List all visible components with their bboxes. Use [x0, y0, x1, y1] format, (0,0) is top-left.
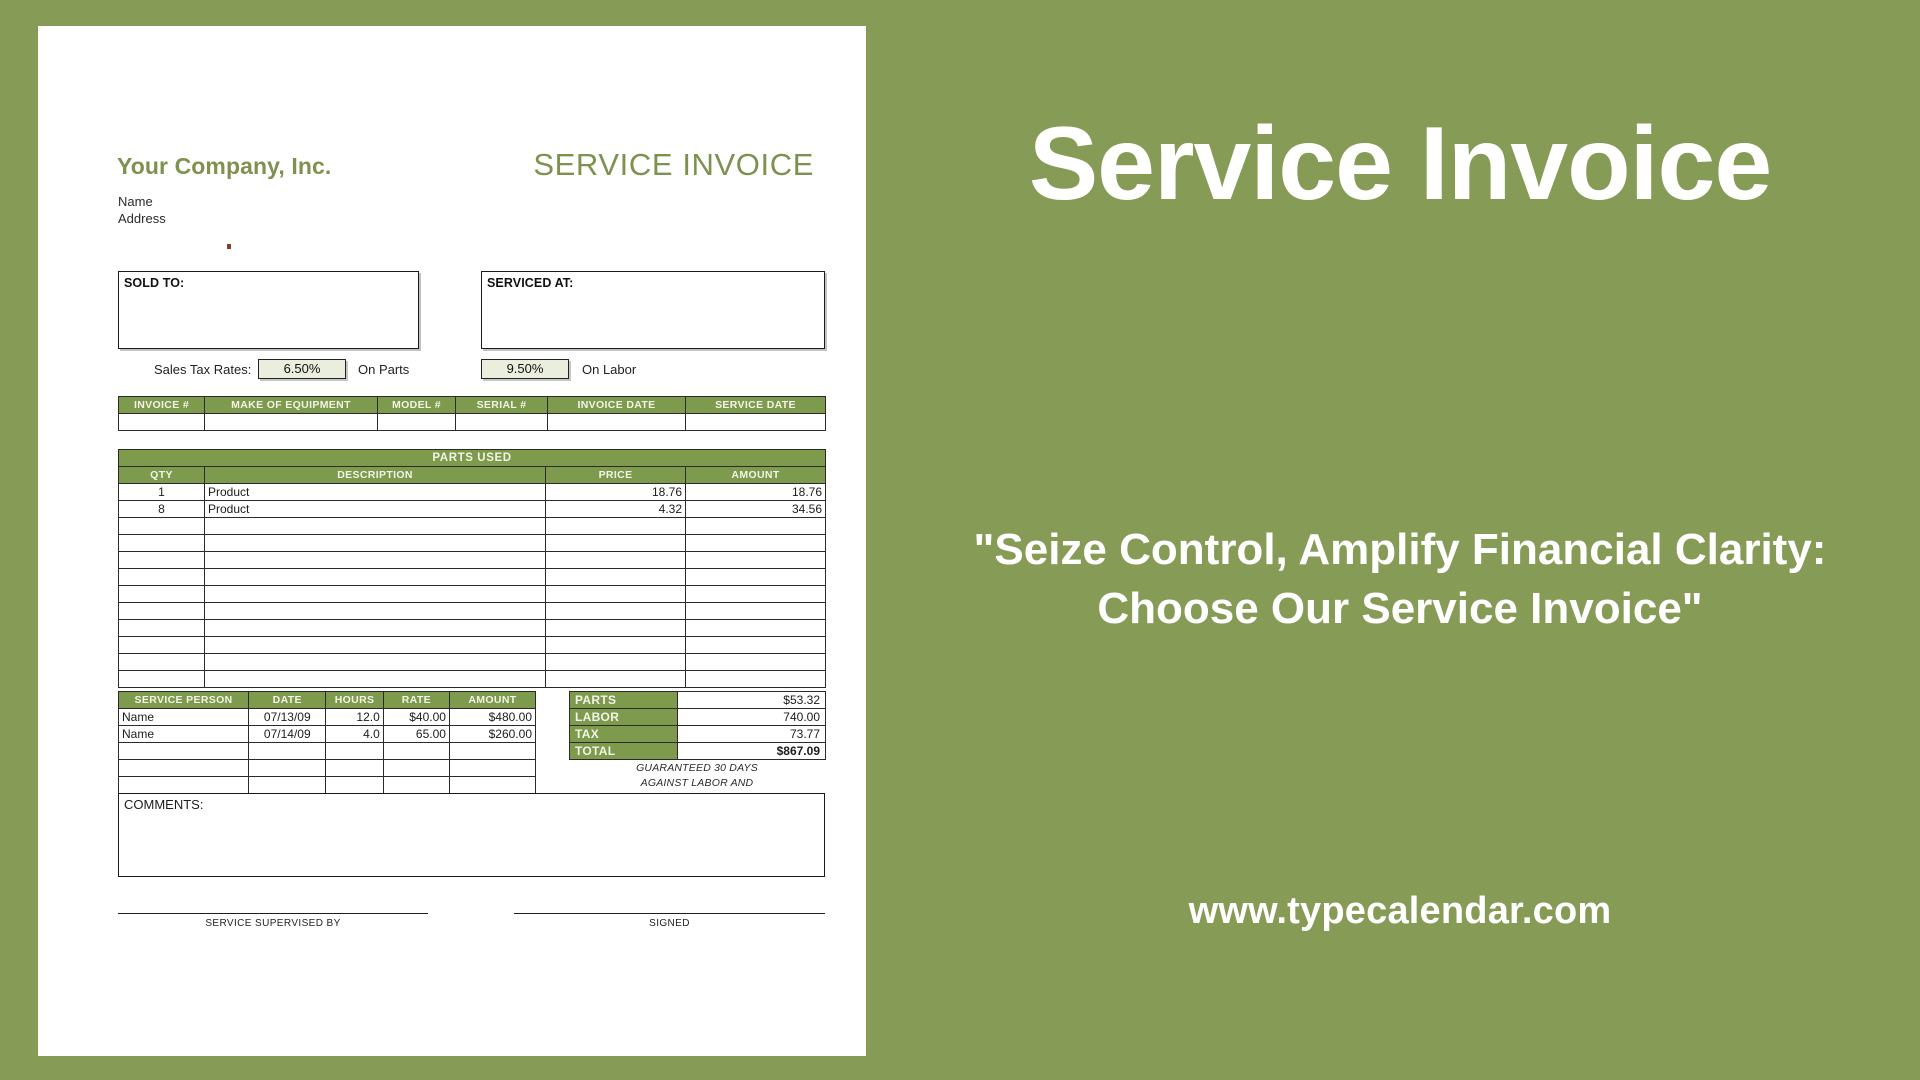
parts-amount-cell[interactable] [686, 569, 826, 586]
parts-amount-cell[interactable] [686, 654, 826, 671]
summary-value: 740.00 [678, 709, 826, 726]
service-rate-cell[interactable] [383, 760, 449, 777]
col-rate: RATE [383, 692, 449, 709]
parts-price-cell[interactable] [546, 637, 686, 654]
make-of-equipment-value[interactable] [205, 414, 378, 431]
parts-price-cell[interactable] [546, 671, 686, 688]
parts-price-cell[interactable] [546, 535, 686, 552]
parts-qty-cell[interactable] [119, 552, 205, 569]
service-row [119, 777, 536, 794]
parts-qty-cell[interactable] [119, 586, 205, 603]
service-date-cell[interactable] [249, 777, 326, 794]
service-amount-cell[interactable]: $480.00 [449, 709, 535, 726]
parts-rows-body: 1Product18.7618.768Product4.3234.56 [119, 484, 826, 688]
parts-qty-cell[interactable] [119, 620, 205, 637]
summary-value: 73.77 [678, 726, 826, 743]
parts-price-cell[interactable] [546, 654, 686, 671]
col-description: DESCRIPTION [205, 467, 546, 484]
summary-label: TAX [570, 726, 678, 743]
summary-rows-body: PARTS$53.32LABOR740.00TAX73.77TOTAL$867.… [570, 692, 826, 760]
sold-to-label: SOLD TO: [119, 272, 418, 290]
summary-value: $53.32 [678, 692, 826, 709]
guarantee-line-2: AGAINST LABOR AND [569, 776, 825, 791]
service-header-row: SERVICE PERSON DATE HOURS RATE AMOUNT [119, 692, 536, 709]
col-invoice-date: INVOICE DATE [548, 397, 686, 414]
parts-row [119, 518, 826, 535]
summary-row: LABOR740.00 [570, 709, 826, 726]
poster-canvas: Your Company, Inc. SERVICE INVOICE Name … [0, 0, 1920, 1080]
supervised-by-block: SERVICE SUPERVISED BY [118, 913, 428, 929]
company-name: Your Company, Inc. [117, 153, 331, 180]
col-price: PRICE [546, 467, 686, 484]
parts-description-cell[interactable]: Product [205, 501, 546, 518]
service-rate-cell[interactable] [383, 777, 449, 794]
parts-amount-cell[interactable]: 34.56 [686, 501, 826, 518]
invoice-number-value[interactable] [119, 414, 205, 431]
col-service-person: SERVICE PERSON [119, 692, 249, 709]
service-row [119, 743, 536, 760]
parts-qty-cell[interactable] [119, 654, 205, 671]
service-hours-cell[interactable] [326, 743, 383, 760]
supervised-by-caption: SERVICE SUPERVISED BY [118, 918, 428, 929]
parts-used-table: PARTS USED QTY DESCRIPTION PRICE AMOUNT … [118, 449, 825, 688]
invoice-page: Your Company, Inc. SERVICE INVOICE Name … [38, 26, 866, 1056]
parts-description-cell[interactable]: Product [205, 484, 546, 501]
parts-row [119, 569, 826, 586]
company-address-label: Address [118, 210, 166, 227]
parts-price-cell[interactable] [546, 518, 686, 535]
parts-price-cell[interactable] [546, 603, 686, 620]
parts-price-cell[interactable] [546, 620, 686, 637]
parts-row [119, 603, 826, 620]
service-hours-cell[interactable] [326, 777, 383, 794]
service-amount-cell[interactable]: $260.00 [449, 726, 535, 743]
parts-amount-cell[interactable]: 18.76 [686, 484, 826, 501]
col-service-date: SERVICE DATE [686, 397, 826, 414]
col-amount: AMOUNT [686, 467, 826, 484]
summary-label: LABOR [570, 709, 678, 726]
parts-used-title-row: PARTS USED [119, 450, 826, 467]
parts-amount-cell[interactable] [686, 637, 826, 654]
model-number-value[interactable] [378, 414, 456, 431]
comments-box[interactable]: COMMENTS: [118, 793, 825, 877]
invoice-info-value-row [119, 414, 826, 431]
invoice-info-header-row: INVOICE # MAKE OF EQUIPMENT MODEL # SERI… [119, 397, 826, 414]
summary-row: TAX73.77 [570, 726, 826, 743]
service-amount-cell[interactable] [449, 743, 535, 760]
parts-price-cell[interactable] [546, 569, 686, 586]
service-hours-cell[interactable]: 12.0 [326, 709, 383, 726]
guarantee-line-1: GUARANTEED 30 DAYS [569, 761, 825, 776]
parts-qty-cell[interactable] [119, 603, 205, 620]
service-amount-cell[interactable] [449, 760, 535, 777]
promo-tagline: "Seize Control, Amplify Financial Clarit… [910, 520, 1890, 639]
parts-used-title: PARTS USED [119, 450, 826, 467]
service-row: Name07/14/094.065.00$260.00 [119, 726, 536, 743]
sold-to-box[interactable]: SOLD TO: [118, 271, 419, 349]
serial-number-value[interactable] [456, 414, 548, 431]
parts-amount-cell[interactable] [686, 620, 826, 637]
service-rate-cell[interactable]: 65.00 [383, 726, 449, 743]
parts-row [119, 620, 826, 637]
service-hours-cell[interactable]: 4.0 [326, 726, 383, 743]
service-person-cell[interactable]: Name [119, 726, 249, 743]
parts-header-row: QTY DESCRIPTION PRICE AMOUNT [119, 467, 826, 484]
serviced-at-box[interactable]: SERVICED AT: [481, 271, 825, 349]
on-labor-label: On Labor [582, 362, 636, 377]
parts-qty-cell[interactable]: 1 [119, 484, 205, 501]
parts-row [119, 654, 826, 671]
red-marker-dot [227, 244, 231, 249]
parts-amount-cell[interactable] [686, 518, 826, 535]
parts-description-cell[interactable] [205, 620, 546, 637]
parts-amount-cell[interactable] [686, 603, 826, 620]
promo-panel: Service Invoice "Seize Control, Amplify … [880, 0, 1920, 1080]
parts-row [119, 671, 826, 688]
parts-price-cell[interactable] [546, 586, 686, 603]
parts-description-cell[interactable] [205, 637, 546, 654]
parts-row [119, 552, 826, 569]
service-rows-body: Name07/13/0912.0$40.00$480.00Name07/14/0… [119, 709, 536, 794]
signature-zone: SERVICE SUPERVISED BY SIGNED [118, 913, 825, 947]
invoice-sheet: Your Company, Inc. SERVICE INVOICE Name … [80, 131, 822, 189]
parts-description-cell[interactable] [205, 586, 546, 603]
sales-tax-rates-row: Sales Tax Rates: 6.50% On Parts 9.50% On… [118, 359, 825, 381]
address-boxes: SOLD TO: SERVICED AT: [118, 271, 825, 349]
col-invoice-number: INVOICE # [119, 397, 205, 414]
service-date-cell[interactable]: 07/13/09 [249, 709, 326, 726]
document-title: SERVICE INVOICE [533, 147, 814, 183]
company-name-label: Name [118, 193, 166, 210]
parts-description-cell[interactable] [205, 535, 546, 552]
col-hours: HOURS [326, 692, 383, 709]
invoice-header: Your Company, Inc. SERVICE INVOICE [80, 131, 822, 189]
company-contact-block: Name Address [118, 193, 166, 228]
col-make-of-equipment: MAKE OF EQUIPMENT [205, 397, 378, 414]
summary-table: PARTS$53.32LABOR740.00TAX73.77TOTAL$867.… [569, 691, 825, 760]
summary-value: $867.09 [678, 743, 826, 760]
col-serial-number: SERIAL # [456, 397, 548, 414]
service-date-cell[interactable]: 07/14/09 [249, 726, 326, 743]
service-date-value[interactable] [686, 414, 826, 431]
service-date-cell[interactable] [249, 760, 326, 777]
service-person-cell[interactable] [119, 760, 249, 777]
summary-label: TOTAL [570, 743, 678, 760]
service-person-cell[interactable] [119, 743, 249, 760]
col-qty: QTY [119, 467, 205, 484]
service-row [119, 760, 536, 777]
parts-row: 1Product18.7618.76 [119, 484, 826, 501]
service-rate-cell[interactable] [383, 743, 449, 760]
parts-qty-cell[interactable] [119, 569, 205, 586]
service-hours-cell[interactable] [326, 760, 383, 777]
service-person-cell[interactable] [119, 777, 249, 794]
col-date: DATE [249, 692, 326, 709]
parts-row [119, 637, 826, 654]
col-model-number: MODEL # [378, 397, 456, 414]
parts-description-cell[interactable] [205, 518, 546, 535]
parts-description-cell[interactable] [205, 654, 546, 671]
serviced-at-label: SERVICED AT: [482, 272, 824, 290]
parts-qty-cell[interactable] [119, 637, 205, 654]
parts-amount-cell[interactable] [686, 552, 826, 569]
labor-tax-rate-field[interactable]: 9.50% [481, 359, 569, 379]
parts-row [119, 535, 826, 552]
parts-description-cell[interactable] [205, 569, 546, 586]
sales-tax-rates-label: Sales Tax Rates: [154, 362, 251, 377]
parts-qty-cell[interactable] [119, 671, 205, 688]
parts-qty-cell[interactable] [119, 535, 205, 552]
invoice-info-table: INVOICE # MAKE OF EQUIPMENT MODEL # SERI… [118, 396, 825, 431]
summary-row: TOTAL$867.09 [570, 743, 826, 760]
promo-title: Service Invoice [880, 110, 1920, 219]
parts-price-cell[interactable] [546, 552, 686, 569]
col-service-amount: AMOUNT [449, 692, 535, 709]
service-date-cell[interactable] [249, 743, 326, 760]
parts-description-cell[interactable] [205, 552, 546, 569]
parts-row [119, 586, 826, 603]
parts-price-cell[interactable]: 18.76 [546, 484, 686, 501]
summary-row: PARTS$53.32 [570, 692, 826, 709]
parts-qty-cell[interactable]: 8 [119, 501, 205, 518]
parts-amount-cell[interactable] [686, 535, 826, 552]
supervised-by-line[interactable] [118, 913, 428, 914]
signed-caption: SIGNED [514, 918, 825, 929]
parts-qty-cell[interactable] [119, 518, 205, 535]
parts-amount-cell[interactable] [686, 671, 826, 688]
parts-row: 8Product4.3234.56 [119, 501, 826, 518]
parts-price-cell[interactable]: 4.32 [546, 501, 686, 518]
parts-description-cell[interactable] [205, 603, 546, 620]
parts-tax-rate-field[interactable]: 6.50% [258, 359, 346, 379]
summary-label: PARTS [570, 692, 678, 709]
service-row: Name07/13/0912.0$40.00$480.00 [119, 709, 536, 726]
comments-label: COMMENTS: [119, 794, 824, 812]
parts-amount-cell[interactable] [686, 586, 826, 603]
promo-url[interactable]: www.typecalendar.com [880, 890, 1920, 933]
signed-block: SIGNED [514, 913, 825, 929]
signed-line[interactable] [514, 913, 825, 914]
parts-description-cell[interactable] [205, 671, 546, 688]
service-amount-cell[interactable] [449, 777, 535, 794]
service-person-cell[interactable]: Name [119, 709, 249, 726]
invoice-date-value[interactable] [548, 414, 686, 431]
on-parts-label: On Parts [358, 362, 409, 377]
service-rate-cell[interactable]: $40.00 [383, 709, 449, 726]
